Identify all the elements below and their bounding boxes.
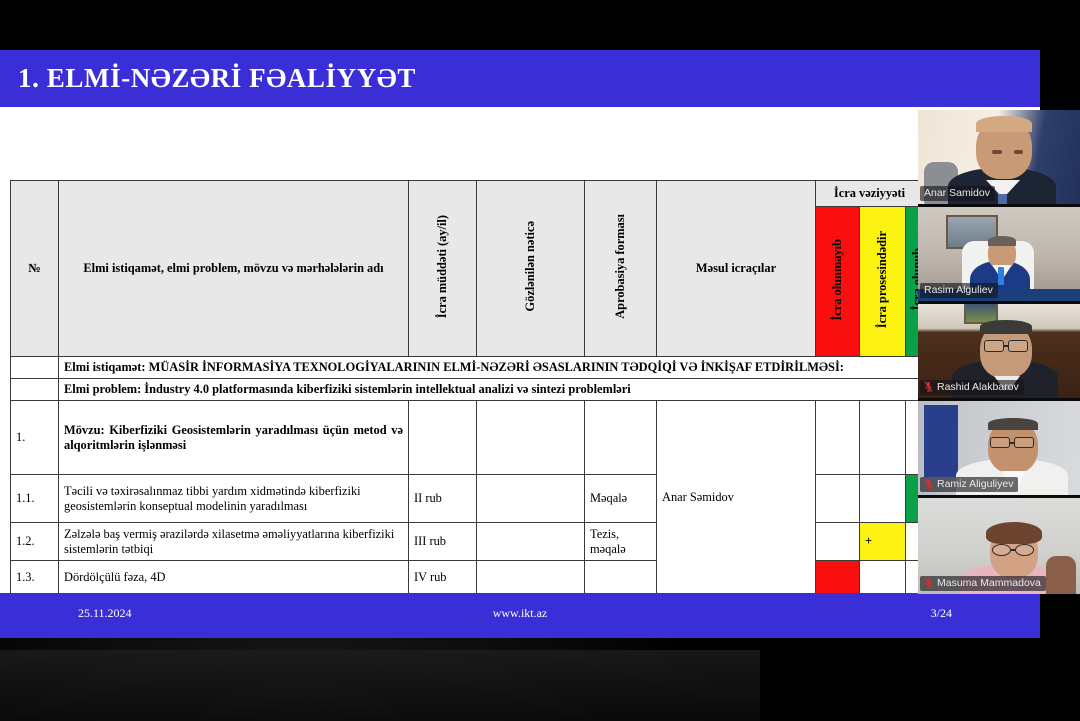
row-status-not-done [816,561,860,594]
presentation-slide: 1. ELMİ-NƏZƏRİ FƏALİYYƏT № Elmi istiqamə… [0,50,1040,638]
band-no-cell [11,357,59,379]
row-status-in-progress: + [860,523,906,561]
video-tile-participant[interactable]: Ramiz Aliguliyev [918,401,1080,495]
row-result [477,523,585,561]
row-status-in-progress [860,401,906,475]
video-tile-participant[interactable]: Rasim Alguliev [918,207,1080,301]
footer-site: www.ikt.az [0,606,1040,621]
participant-name: Rasim Alguliev [924,284,993,296]
table-header-row: № Elmi istiqamət, elmi problem, mövzu və… [11,181,924,207]
row-result [477,401,585,475]
participant-name: Ramiz Aliguliyev [937,478,1013,490]
th-status-not-done: İcra olunmayıb [816,207,860,357]
mic-muted-icon [924,478,933,490]
row-name: Dördölçülü fəza, 4D [59,561,409,594]
th-term: İcra müddəti (ay/il) [409,181,477,357]
work-plan-table: № Elmi istiqamət, elmi problem, mövzu və… [10,180,924,594]
slide-title-bar: 1. ELMİ-NƏZƏRİ FƏALİYYƏT [0,50,1040,107]
th-status-in-progress: İcra prosesindədir [860,207,906,357]
row-aprob: Tezis, məqalə [585,523,657,561]
row-no: 1. [11,401,59,475]
room-foreground-silhouette [0,650,760,721]
row-responsible: Anar Səmidov [657,401,816,594]
th-status-not-done-label: İcra olunmayıb [831,239,845,321]
row-result [477,475,585,523]
row-aprob: Məqalə [585,475,657,523]
table-body: Elmi istiqamət: MÜASİR İNFORMASİYA TEXNO… [11,357,924,594]
screen-share-view: 1. ELMİ-NƏZƏRİ FƏALİYYƏT № Elmi istiqamə… [0,0,1080,721]
participant-name: Masuma Mammadova [937,577,1041,589]
row-term: II rub [409,475,477,523]
row-term [409,401,477,475]
participant-name-badge: Ramiz Aliguliyev [920,477,1018,492]
participant-name-badge: Rasim Alguliev [920,283,998,298]
row-aprob [585,401,657,475]
band-no-cell-2 [11,379,59,401]
mic-muted-icon [924,577,933,589]
row-name: Təcili və təxirəsalınmaz tibbi yardım xi… [59,475,409,523]
row-no: 1.2. [11,523,59,561]
participant-name-badge: Anar Samidov [920,186,995,201]
slide-footer: 25.11.2024 www.ikt.az 3/24 [0,593,1040,638]
th-result: Gözlənilən nəticə [477,181,585,357]
page-title: 1. ELMİ-NƏZƏRİ FƏALİYYƏT [0,63,416,94]
footer-page-number: 3/24 [931,606,952,621]
row-term: III rub [409,523,477,561]
band-problem-text: Elmi problem: İndustry 4.0 platformasınd… [59,379,924,401]
th-no: № [11,181,59,357]
row-status-not-done [816,475,860,523]
row-aprob [585,561,657,594]
th-name: Elmi istiqamət, elmi problem, mövzu və m… [59,181,409,357]
row-no: 1.1. [11,475,59,523]
th-status-in-progress-label: İcra prosesindədir [876,231,890,328]
band-direction-text: Elmi istiqamət: MÜASİR İNFORMASİYA TEXNO… [59,357,924,379]
th-term-label: İcra müddəti (ay/il) [436,215,450,318]
table-row-band-problem: Elmi problem: İndustry 4.0 platformasınd… [11,379,924,401]
row-status-in-progress [860,475,906,523]
th-responsible: Məsul icraçılar [657,181,816,357]
mic-muted-icon [924,381,933,393]
video-tile-participant[interactable]: Rashid Alakbarov [918,304,1080,398]
row-status-not-done [816,401,860,475]
row-no: 1.3. [11,561,59,594]
participant-name-badge: Masuma Mammadova [920,576,1046,591]
row-status-not-done [816,523,860,561]
row-term: IV rub [409,561,477,594]
row-result [477,561,585,594]
th-aprob: Aprobasiya forması [585,181,657,357]
participant-name: Anar Samidov [924,187,990,199]
th-status-group: İcra vəziyyəti [816,181,924,207]
participant-name-badge: Rashid Alakbarov [920,380,1024,395]
table-row-band-direction: Elmi istiqamət: MÜASİR İNFORMASİYA TEXNO… [11,357,924,379]
video-tile-participant[interactable]: Anar Samidov [918,110,1080,204]
participant-name: Rashid Alakbarov [937,381,1019,393]
th-aprob-label: Aprobasiya forması [614,214,628,319]
slide-body: № Elmi istiqamət, elmi problem, mövzu və… [0,107,1040,583]
participant-video-strip[interactable]: Anar Samidov Rasim Alguliev [918,110,1080,594]
row-status-in-progress [860,561,906,594]
video-tile-participant[interactable]: Masuma Mammadova [918,498,1080,594]
row-name: Zəlzələ baş vermiş ərazilərdə xilasetmə … [59,523,409,561]
th-result-label: Gözlənilən nəticə [524,221,538,312]
table-row: 1. Mövzu: Kiberfiziki Geosistemlərin yar… [11,401,924,475]
row-name: Mövzu: Kiberfiziki Geosistemlərin yaradı… [59,401,409,475]
